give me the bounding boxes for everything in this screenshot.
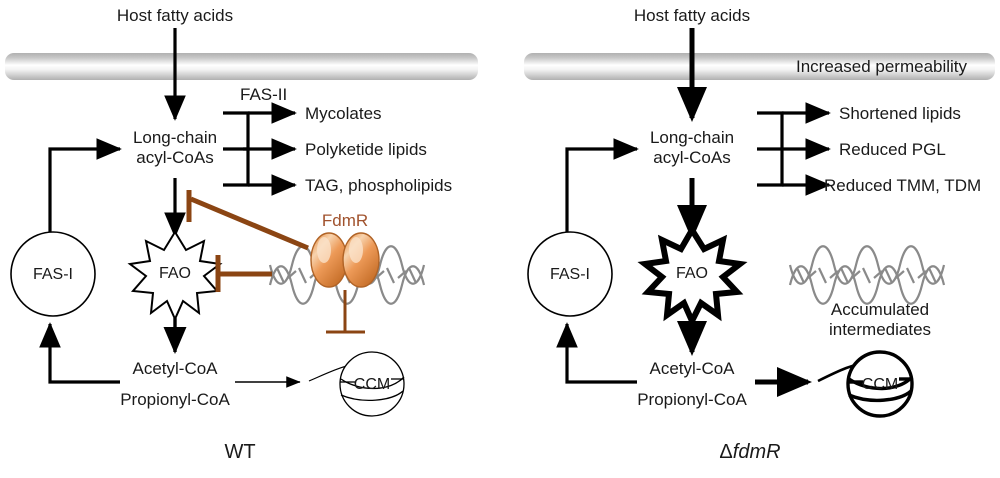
product-polyketide-lipids-wt: Polyketide lipids	[305, 140, 427, 159]
inhibition-tbar-icon-acyl-wt	[189, 190, 308, 248]
inhibition-tbar-icon-ccm-wt	[326, 290, 365, 332]
inhibition-tbar-icon-fao-wt	[218, 255, 272, 292]
node-ccm-wt: CCM	[342, 375, 402, 394]
node-host-fatty-acids-wt: Host fatty acids	[85, 6, 265, 25]
panel-title-gene: fdmR	[733, 441, 781, 463]
product-mycolates-wt: Mycolates	[305, 104, 382, 123]
panel-title-mutant: ΔfdmR	[690, 443, 810, 462]
arrow-icon-product-branch-mut	[757, 113, 829, 185]
node-propionyl-coa-wt: Propionyl-CoA	[100, 390, 250, 409]
node-propionyl-coa-mut: Propionyl-CoA	[617, 390, 767, 409]
node-acetyl-coa-mut: Acetyl-CoA	[627, 359, 757, 378]
product-reduced-tmm-tdm-mut: Reduced TMM, TDM	[824, 176, 981, 195]
membrane-bar-icon-wt	[5, 53, 478, 80]
product-tag-phospholipids-wt: TAG, phospholipids	[305, 176, 452, 195]
node-long-chain-acyl-coas-line1-mut: Long-chain	[627, 128, 757, 147]
node-host-fatty-acids-mut: Host fatty acids	[602, 6, 782, 25]
node-long-chain-acyl-coas-line2-mut: acyl-CoAs	[627, 148, 757, 167]
node-acetyl-coa-wt: Acetyl-CoA	[110, 359, 240, 378]
node-fao-wt: FAO	[145, 264, 205, 283]
panel-title-wt: WT	[180, 443, 300, 462]
panel-title-delta: Δ	[719, 441, 732, 463]
product-reduced-pgl-mut: Reduced PGL	[839, 140, 946, 159]
label-increased-permeability: Increased permeability	[796, 57, 967, 76]
label-accumulated-line2: intermediates	[800, 320, 960, 339]
figure-canvas: Host fatty acids Long-chain acyl-CoAs FA…	[0, 0, 1000, 478]
node-fao-mut: FAO	[662, 264, 722, 283]
node-fas-i-wt: FAS-I	[13, 265, 93, 284]
label-fas-ii-wt: FAS-II	[240, 85, 287, 104]
label-accumulated-line1: Accumulated	[800, 300, 960, 319]
node-long-chain-acyl-coas-line2-wt: acyl-CoAs	[110, 148, 240, 167]
node-long-chain-acyl-coas-line1-wt: Long-chain	[110, 128, 240, 147]
protein-dimer-icon-fdmr-wt	[311, 233, 379, 287]
product-shortened-lipids-mut: Shortened lipids	[839, 104, 961, 123]
node-ccm-mut: CCM	[850, 375, 910, 394]
dna-helix-icon-mut	[790, 246, 944, 304]
label-fdmr-wt: FdmR	[310, 211, 380, 230]
node-fas-i-mut: FAS-I	[530, 265, 610, 284]
